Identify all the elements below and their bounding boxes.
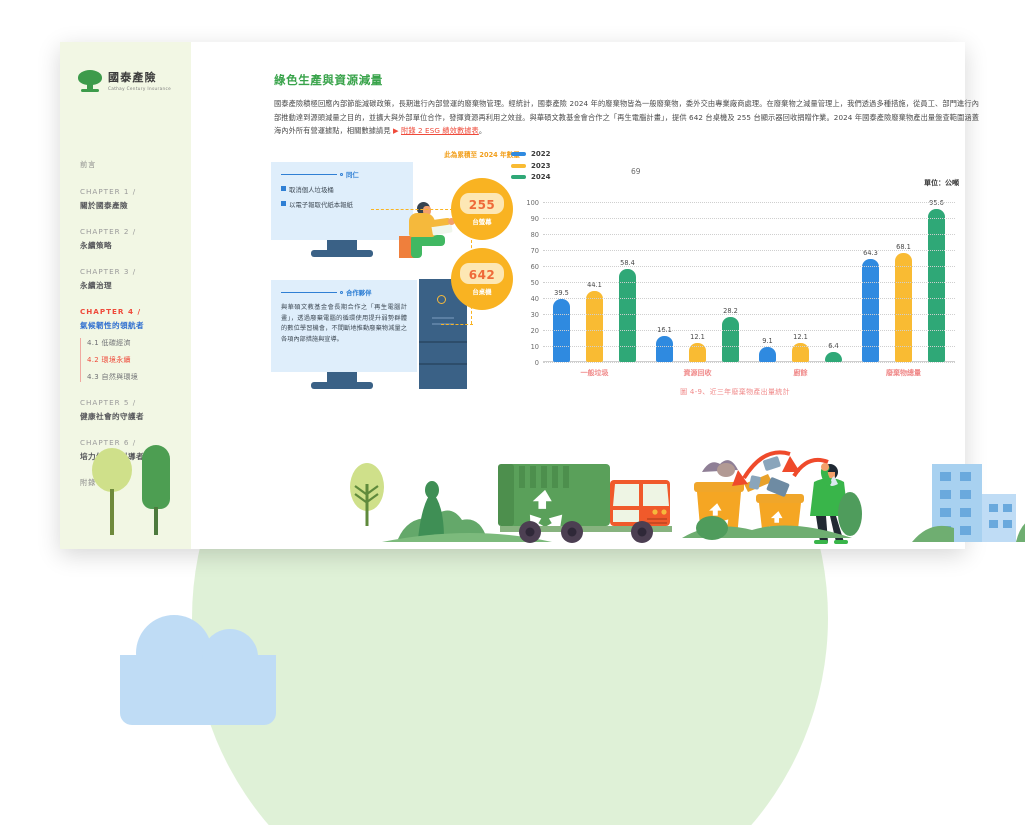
tag-dot-icon [340, 173, 343, 176]
chart-bar-value-label: 95.6 [929, 199, 944, 207]
tall-tree-icon [142, 445, 170, 535]
legend-item-2023: 2023 [511, 162, 550, 170]
chart-y-tick-label: 10 [531, 343, 539, 351]
chart-gridline: 80 [543, 234, 955, 235]
chart-y-tick-label: 100 [526, 199, 539, 207]
desktops-count-badge: 642 台桌機 [451, 248, 513, 310]
employee-card-tag: 同仁 [281, 170, 403, 179]
desktops-count-value: 642 [469, 268, 496, 282]
chart-gridline: 10 [543, 346, 955, 347]
legend-swatch-2022 [511, 152, 526, 156]
round-tree-icon [92, 448, 132, 535]
main-content: 綠色生產與資源減量 國泰產險積極回應內部節能減碳政策，長期進行內部營運的廢棄物管… [191, 42, 965, 549]
chart-y-tick-label: 40 [531, 295, 539, 303]
tag-rule-line [281, 174, 337, 175]
chart-y-tick-label: 20 [531, 327, 539, 335]
chart-gridline: 40 [543, 298, 955, 299]
recycling-truck-icon [498, 464, 672, 543]
body-paragraph: 國泰產險積極回應內部節能減碳政策，長期進行內部營運的廢棄物管理。經統計，國泰產險… [274, 97, 979, 138]
chart-gridline: 50 [543, 282, 955, 283]
legend-label-2024: 2024 [531, 173, 550, 181]
partner-card-text: 與華碩文教基金會長期合作之「再生電腦計畫」，透過廢棄電腦的循環使用提升弱勢群體的… [281, 303, 407, 345]
chart-bar[interactable]: 44.1 [586, 291, 603, 362]
sidebar-tree-decoration [82, 424, 192, 539]
brand-name-en: Cathay Century Insurance [108, 86, 171, 91]
chart-bar[interactable]: 95.6 [928, 209, 945, 362]
sidebar-item-chapter-2[interactable]: CHAPTER 2 / 永續策略 [80, 227, 188, 251]
chart-x-tick-labels: 一般垃圾資源回收廚餘廢棄物總量 [543, 368, 955, 378]
chart-category-label: 廢棄物總量 [852, 368, 955, 378]
legend-swatch-2024 [511, 175, 526, 179]
waste-bar-chart: 2022 2023 2024 單位：公噸 39.544.158.416.112.… [511, 150, 959, 400]
bullet-square-icon [281, 186, 286, 191]
chapter-3-number: CHAPTER 3 / [80, 267, 188, 276]
chart-bar-value-label: 12.1 [690, 333, 705, 341]
chapter-5-number: CHAPTER 5 / [80, 398, 188, 407]
chart-y-tick-label: 60 [531, 263, 539, 271]
chart-gridline: 90 [543, 218, 955, 219]
chart-category-label: 廚餘 [749, 368, 852, 378]
partner-card-tag: 合作夥伴 [281, 288, 407, 297]
monitors-count-unit: 台螢幕 [472, 217, 491, 226]
chart-legend: 2022 2023 2024 [511, 150, 550, 185]
flag-icon: ▶ [393, 126, 399, 135]
legend-label-2022: 2022 [531, 150, 550, 158]
legend-item-2022: 2022 [511, 150, 550, 158]
background-cloud-decoration [120, 655, 276, 725]
chart-bar[interactable]: 16.1 [656, 336, 673, 362]
chart-bar[interactable]: 9.1 [759, 347, 776, 362]
page-title: 綠色生產與資源減量 [274, 72, 383, 88]
partner-measures-card: 合作夥伴 與華碩文教基金會長期合作之「再生電腦計畫」，透過廢棄電腦的循環使用提升… [271, 280, 417, 372]
bottom-illustration [322, 442, 1025, 549]
infographic-block: 同仁 取消個人垃圾桶 以電子報取代紙本報紙 [271, 154, 511, 399]
sapling-icon [350, 463, 384, 526]
tag-rule-line [281, 292, 337, 293]
chapter-2-number: CHAPTER 2 / [80, 227, 188, 236]
sidebar-item-chapter-4[interactable]: CHAPTER 4 / 氣候韌性的領航者 4.1 低碳經濟 4.2 環境永續 4… [80, 307, 188, 382]
body-text-part-2: 。 [479, 126, 486, 135]
sidebar-item-chapter-5[interactable]: CHAPTER 5 / 健康社會的守護者 [80, 398, 188, 422]
employee-card-tag-label: 同仁 [346, 170, 359, 179]
employee-bullet-1: 取消個人垃圾桶 [281, 185, 403, 194]
chart-gridline: 0 [543, 362, 955, 363]
chapter-2-title: 永續策略 [80, 240, 188, 251]
employee-bullet-2-label: 以電子報取代紙本報紙 [289, 200, 353, 209]
chart-caption: 圖 4-9、近三年廢棄物產出量統計 [511, 387, 959, 397]
report-page-sheet: 國泰產險 Cathay Century Insurance 前言 CHAPTER… [60, 42, 965, 549]
employee-bullet-2: 以電子報取代紙本報紙 [281, 200, 403, 209]
chart-y-tick-label: 80 [531, 231, 539, 239]
chart-y-tick-label: 70 [531, 247, 539, 255]
appendix-link[interactable]: 附錄 2 ESG 績效數據表 [401, 126, 479, 135]
monitor-base-icon [311, 250, 373, 257]
badge-connector-line-3 [441, 324, 473, 325]
sidebar-item-chapter-1[interactable]: CHAPTER 1 / 關於國泰產險 [80, 187, 188, 211]
chart-plot-area: 39.544.158.416.112.128.29.112.16.464.368… [543, 202, 955, 362]
chart-bar-value-label: 39.5 [554, 289, 569, 297]
chart-y-tick-label: 30 [531, 311, 539, 319]
chart-gridline: 70 [543, 250, 955, 251]
monitors-count-badge: 255 台螢幕 [451, 178, 513, 240]
tree-logo-icon [78, 70, 102, 92]
chart-y-tick-label: 90 [531, 215, 539, 223]
chart-category-label: 資源回收 [646, 368, 749, 378]
chart-gridline: 60 [543, 266, 955, 267]
chart-unit-label: 單位：公噸 [924, 178, 959, 188]
chart-y-tick-label: 50 [531, 279, 539, 287]
recycle-bin-icon [682, 452, 862, 544]
legend-swatch-2023 [511, 164, 526, 168]
chart-gridline: 20 [543, 330, 955, 331]
brand-logo[interactable]: 國泰產險 Cathay Century Insurance [78, 70, 171, 92]
chart-y-tick-label: 0 [535, 359, 539, 367]
chart-bar[interactable]: 6.4 [825, 352, 842, 362]
chapter-3-title: 永續治理 [80, 280, 188, 291]
sidebar-subitem-4-1[interactable]: 4.1 低碳經濟 [87, 338, 188, 348]
page-number: 69 [631, 167, 641, 176]
tag-dot-icon [340, 291, 343, 294]
sidebar-subitem-4-3[interactable]: 4.3 自然與環境 [87, 372, 188, 382]
employee-bullet-1-label: 取消個人垃圾桶 [289, 185, 334, 194]
chapter-5-title: 健康社會的守護者 [80, 411, 188, 422]
brand-name-cn: 國泰產險 [108, 72, 171, 84]
sidebar: 國泰產險 Cathay Century Insurance 前言 CHAPTER… [60, 42, 191, 549]
page-root: 國泰產險 Cathay Century Insurance 前言 CHAPTER… [0, 0, 1025, 825]
monitor-neck-icon [327, 240, 357, 250]
buildings-icon [912, 464, 1025, 542]
chart-bar-value-label: 9.1 [762, 337, 773, 345]
chart-bar[interactable]: 28.2 [722, 317, 739, 362]
sidebar-item-preface[interactable]: 前言 [80, 160, 188, 170]
chart-gridline: 100 [543, 202, 955, 203]
body-text-part-1: 國泰產險積極回應內部節能減碳政策，長期進行內部營運的廢棄物管理。經統計，國泰產險… [274, 99, 979, 135]
sidebar-subitem-4-2[interactable]: 4.2 環境永續 [87, 355, 188, 365]
chapter-4-subitems: 4.1 低碳經濟 4.2 環境永續 4.3 自然與環境 [80, 338, 188, 382]
chapter-4-title: 氣候韌性的領航者 [80, 320, 188, 331]
chapter-4-number: CHAPTER 4 / [80, 307, 188, 316]
chapter-1-number: CHAPTER 1 / [80, 187, 188, 196]
chart-gridline: 30 [543, 314, 955, 315]
monitor-base-icon [311, 382, 373, 389]
legend-item-2024: 2024 [511, 173, 550, 181]
chart-bar-value-label: 12.1 [793, 333, 808, 341]
chapter-1-title: 關於國泰產險 [80, 200, 188, 211]
badge-note: 此為累積至 2024 年數量 [443, 150, 521, 161]
illustration-svg [322, 442, 1025, 549]
bullet-square-icon [281, 201, 286, 206]
desktops-count-unit: 台桌機 [472, 287, 491, 296]
partner-card-tag-label: 合作夥伴 [346, 288, 372, 297]
badge-connector-line-1 [371, 209, 453, 210]
legend-label-2023: 2023 [531, 162, 550, 170]
sidebar-item-chapter-3[interactable]: CHAPTER 3 / 永續治理 [80, 267, 188, 291]
monitor-neck-icon [327, 372, 357, 382]
monitors-count-value: 255 [469, 198, 496, 212]
chart-category-label: 一般垃圾 [543, 368, 646, 378]
